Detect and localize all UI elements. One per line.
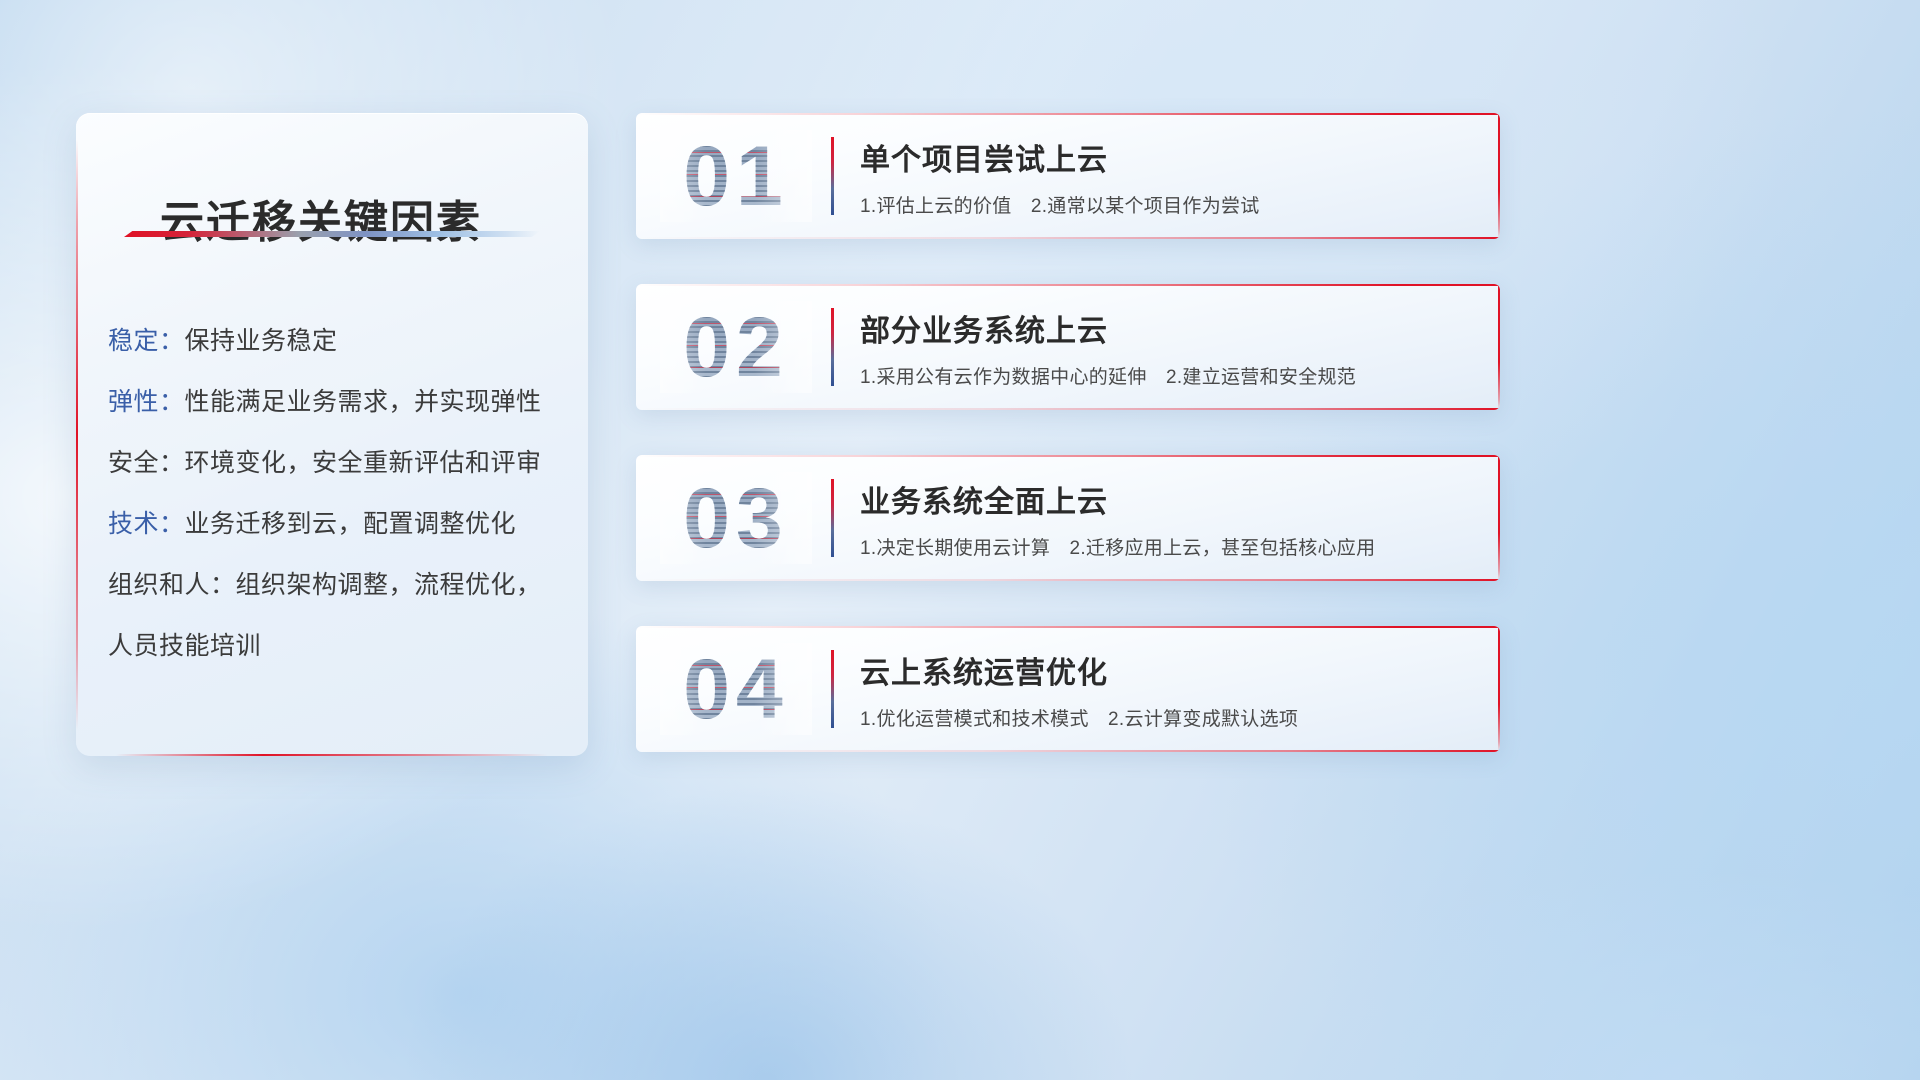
- stage-card[interactable]: 0202部分业务系统上云1.采用公有云作为数据中心的延伸 2.建立运营和安全规范: [636, 284, 1500, 410]
- stage-number-glitch-overlay: 01: [660, 130, 812, 222]
- card-bottom-accent-line: [636, 579, 1500, 581]
- stage-card[interactable]: 0303业务系统全面上云1.决定长期使用云计算 2.迁移应用上云，甚至包括核心应…: [636, 455, 1500, 581]
- factor-item: 技术：业务迁移到云，配置调整优化: [108, 494, 564, 555]
- card-body: 业务系统全面上云1.决定长期使用云计算 2.迁移应用上云，甚至包括核心应用: [860, 477, 1474, 560]
- stage-number-graphic: 0404: [660, 643, 812, 735]
- card-description: 1.评估上云的价值 2.通常以某个项目作为尝试: [860, 191, 1474, 218]
- card-right-accent-line: [1498, 626, 1500, 752]
- slide-stage: 云迁移关键因素 稳定：保持业务稳定弹性：性能满足业务需求，并实现弹性安全：环境变…: [0, 0, 1920, 1080]
- title-underline-gradient: [124, 231, 540, 237]
- card-divider-line: [831, 650, 834, 728]
- card-top-accent-line: [636, 113, 1500, 115]
- stage-number-glitch-overlay: 04: [660, 643, 812, 735]
- factor-item: 安全：环境变化，安全重新评估和评审: [108, 433, 564, 494]
- factor-value: 性能满足业务需求，并实现弹性: [185, 388, 542, 416]
- card-body: 单个项目尝试上云1.评估上云的价值 2.通常以某个项目作为尝试: [860, 135, 1474, 218]
- key-factors-panel: 云迁移关键因素 稳定：保持业务稳定弹性：性能满足业务需求，并实现弹性安全：环境变…: [76, 113, 588, 756]
- stage-card[interactable]: 0101单个项目尝试上云1.评估上云的价值 2.通常以某个项目作为尝试: [636, 113, 1500, 239]
- stage-number-graphic: 0101: [660, 130, 812, 222]
- card-right-accent-line: [1498, 113, 1500, 239]
- factor-item: 弹性：性能满足业务需求，并实现弹性: [108, 372, 564, 433]
- factor-key: 弹性：: [108, 388, 185, 416]
- card-bottom-accent-line: [636, 750, 1500, 752]
- stage-number-graphic: 0202: [660, 301, 812, 393]
- page-title: 云迁移关键因素: [160, 186, 482, 250]
- factor-key: 组织和人：: [108, 571, 236, 599]
- factor-value: 业务迁移到云，配置调整优化: [185, 510, 517, 538]
- factor-key: 技术：: [108, 510, 185, 538]
- card-right-accent-line: [1498, 455, 1500, 581]
- panel-bottom-accent-line: [116, 754, 548, 756]
- factor-value: 环境变化，安全重新评估和评审: [185, 449, 542, 477]
- stage-number-graphic: 0303: [660, 472, 812, 564]
- card-right-accent-line: [1498, 284, 1500, 410]
- factor-item: 稳定：保持业务稳定: [108, 311, 564, 372]
- card-divider-line: [831, 308, 834, 386]
- factor-item: 组织和人：组织架构调整，流程优化，: [108, 555, 564, 616]
- card-title: 云上系统运营优化: [860, 648, 1474, 692]
- card-bottom-accent-line: [636, 237, 1500, 239]
- factor-value: 人员技能培训: [108, 632, 261, 660]
- card-top-accent-line: [636, 284, 1500, 286]
- card-top-accent-line: [636, 455, 1500, 457]
- card-description: 1.决定长期使用云计算 2.迁移应用上云，甚至包括核心应用: [860, 533, 1474, 560]
- card-description: 1.优化运营模式和技术模式 2.云计算变成默认选项: [860, 704, 1474, 731]
- card-title: 单个项目尝试上云: [860, 135, 1474, 179]
- card-bottom-accent-line: [636, 408, 1500, 410]
- card-title: 业务系统全面上云: [860, 477, 1474, 521]
- card-top-accent-line: [636, 626, 1500, 628]
- factor-value: 保持业务稳定: [185, 327, 338, 355]
- factor-key: 安全：: [108, 449, 185, 477]
- card-body: 云上系统运营优化1.优化运营模式和技术模式 2.云计算变成默认选项: [860, 648, 1474, 731]
- stage-number-glitch-overlay: 02: [660, 301, 812, 393]
- stage-card-list: 0101单个项目尝试上云1.评估上云的价值 2.通常以某个项目作为尝试0202部…: [636, 113, 1500, 797]
- card-body: 部分业务系统上云1.采用公有云作为数据中心的延伸 2.建立运营和安全规范: [860, 306, 1474, 389]
- factor-list: 稳定：保持业务稳定弹性：性能满足业务需求，并实现弹性安全：环境变化，安全重新评估…: [108, 311, 564, 677]
- factor-key: 稳定：: [108, 327, 185, 355]
- factor-item: 人员技能培训: [108, 616, 564, 677]
- card-description: 1.采用公有云作为数据中心的延伸 2.建立运营和安全规范: [860, 362, 1474, 389]
- stage-card[interactable]: 0404云上系统运营优化1.优化运营模式和技术模式 2.云计算变成默认选项: [636, 626, 1500, 752]
- factor-value: 组织架构调整，流程优化，: [236, 571, 542, 599]
- stage-number-glitch-overlay: 03: [660, 472, 812, 564]
- card-divider-line: [831, 137, 834, 215]
- card-divider-line: [831, 479, 834, 557]
- card-title: 部分业务系统上云: [860, 306, 1474, 350]
- panel-left-accent-line: [76, 139, 78, 730]
